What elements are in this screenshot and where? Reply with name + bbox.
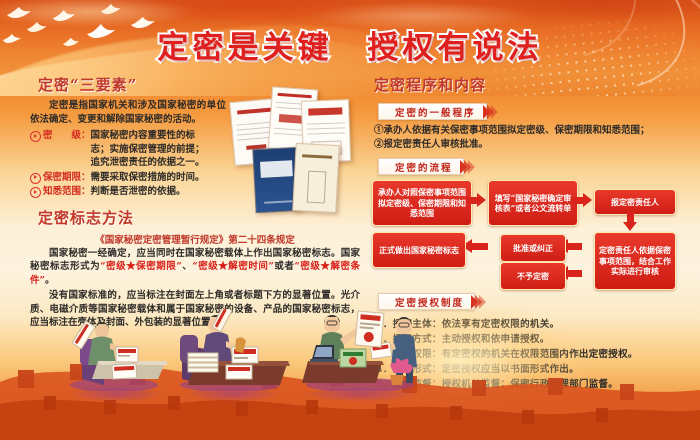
flow-node-3: 报定密责任人 [594, 189, 676, 215]
dove-icon [6, 4, 32, 20]
office-worker-icon [296, 308, 426, 396]
poster-canvas: 定密是关键 授权有说法 定密“三要素” 定密是指国家机关和涉及国家秘密的单位依法… [0, 0, 700, 440]
marking-p1-mark2: “密级★解密时间” [192, 261, 274, 272]
element-label: 密 级： [43, 129, 91, 143]
chevron-right-icon [463, 160, 475, 174]
general-procedure-list: ①承办人依据有关保密事项范围拟定密级、保密期限和知悉范围； ②报定密责任人审核批… [374, 124, 692, 152]
banner-general-procedure: 定密的一般程序 [378, 104, 498, 119]
flow-arrow-body [568, 270, 582, 277]
flow-arrow-body [568, 243, 582, 250]
element-line: 志；实施保密管理的前提； [91, 143, 205, 157]
flow-node-7: 正式做出国家秘密标志 [372, 232, 466, 268]
marking-p1-mark1: “密级★保密期限” [100, 261, 182, 272]
office-worker-icon [170, 309, 295, 396]
element-line: 追究泄密责任的依据之一。 [91, 157, 205, 168]
flow-node-2: 填写“国家秘密确定审核表”或者公文流转单 [488, 180, 578, 226]
flow-node-4: 定密责任人依据保密事项范围，结合工作实际进行审核 [594, 232, 676, 290]
definition-flowchart: 承办人对照保密事项范围拟定密级、保密期限和知悉范围 填写“国家秘密确定审核表”或… [372, 180, 692, 286]
flow-node-5: 批准或纠正 [500, 234, 566, 262]
flow-arrow-body [472, 243, 488, 250]
banner-plate: 定密的流程 [378, 158, 464, 175]
banner-label: 定密授权制度 [395, 295, 464, 309]
flow-arrow-head [623, 222, 637, 231]
marking-p1-sep2: 或者 [274, 261, 295, 272]
chevron-right-icon [474, 295, 486, 309]
figure-shadow [185, 386, 281, 402]
element-label: 保密期限： [43, 171, 91, 185]
figure-shadow [69, 386, 165, 402]
element-line: 国家秘密内容重要性的标 [91, 130, 196, 141]
dove-icon [52, 8, 76, 23]
marking-paragraph-1: 国家秘密一经确定，应当同时在国家秘密载体上作出国家秘密标志。国家秘密标志形式为“… [30, 247, 360, 288]
banner-label: 定密的流程 [395, 160, 453, 174]
list-item: ②报定密责任人审核批准。 [374, 138, 692, 152]
flow-arrow-head [583, 193, 592, 207]
flow-node-1: 承办人对照保密事项范围拟定密级、保密期限和知悉范围 [372, 180, 472, 226]
regulation-title: 《国家秘密定密管理暂行规定》第二十四条规定 [30, 232, 360, 246]
flow-node-6: 不予定密 [500, 262, 566, 290]
three-elements-intro: 定密是指国家机关和涉及国家秘密的单位依法确定、变更和解除国家秘密的活动。 [30, 99, 226, 126]
marking-p1-end: 。 [45, 275, 55, 286]
banner-plate: 定密的一般程序 [378, 103, 487, 120]
banner-authorization: 定密授权制度 [378, 294, 486, 309]
marking-p1-sep1: 、 [182, 261, 193, 272]
section-heading-procedure: 定密程序和内容 [374, 74, 692, 95]
book-card [292, 143, 339, 213]
play-circle-icon [30, 173, 41, 184]
play-circle-icon [30, 131, 41, 142]
figure-shadow [303, 386, 419, 402]
chevron-right-icon [486, 105, 498, 119]
play-circle-icon [30, 187, 41, 198]
banner-label: 定密的一般程序 [395, 105, 476, 119]
law-books-icon [232, 86, 360, 214]
banner-flow: 定密的流程 [378, 159, 475, 174]
dove-icon [100, 2, 122, 16]
office-worker-icon [62, 317, 172, 396]
page-title: 定密是关键 授权有说法 [0, 22, 700, 67]
element-label: 知悉范围： [43, 185, 91, 199]
bottom-illustration [0, 308, 700, 440]
list-item: ①承办人依据有关保密事项范围拟定密级、保密期限和知悉范围； [374, 124, 692, 138]
flow-arrow-head [477, 193, 486, 207]
